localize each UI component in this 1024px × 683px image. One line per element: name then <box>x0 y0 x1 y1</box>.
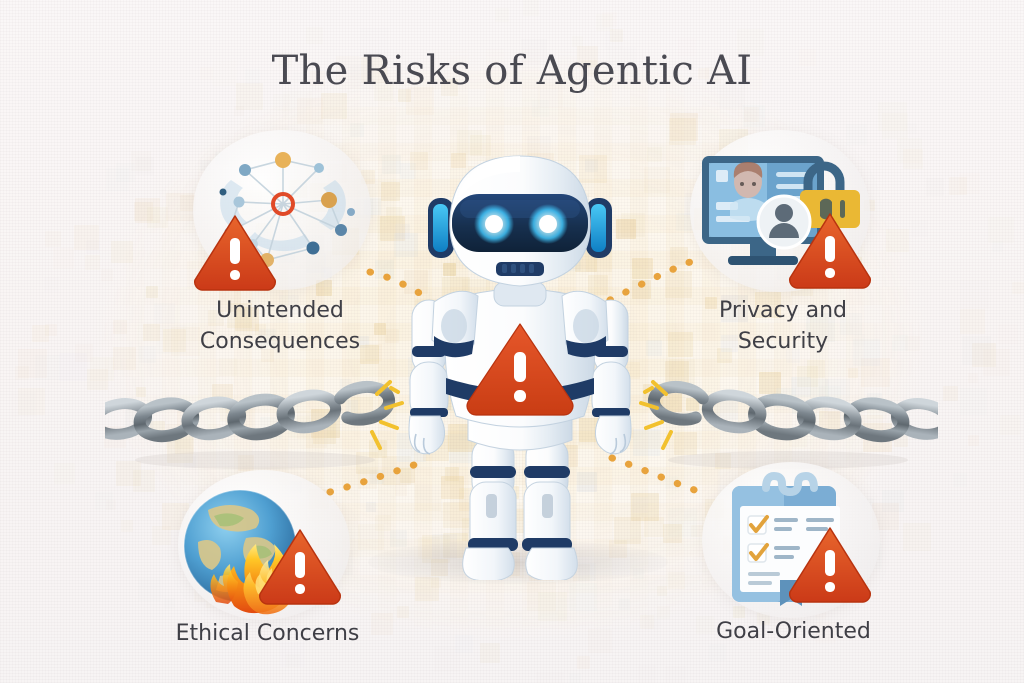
robot-leg-right <box>522 438 577 580</box>
robot-mouth-grille <box>496 262 544 276</box>
node-label-unintended-consequences: Unintended Consequences <box>175 295 385 357</box>
node-unintended-consequences[interactable]: Unintended Consequences <box>175 130 385 360</box>
robot-shoulder-right <box>562 291 608 357</box>
agentic-ai-robot[interactable] <box>390 150 650 580</box>
robot-shoulder-left <box>432 291 478 357</box>
broken-chain-left <box>105 368 405 478</box>
warning-triangle-icon <box>189 210 281 292</box>
node-label-privacy-and-security: Privacy and Security <box>668 295 898 357</box>
robot-eye-left <box>474 204 514 244</box>
robot-leg-left <box>463 438 518 580</box>
node-ethical-concerns[interactable]: Ethical Concerns <box>150 470 385 655</box>
node-label-ethical-concerns: Ethical Concerns <box>150 618 385 649</box>
infographic-canvas: The Risks of Agentic AI .dot-path { fill… <box>0 0 1024 683</box>
node-goal-oriented[interactable]: Goal-Oriented <box>676 462 911 652</box>
warning-triangle-icon <box>784 522 876 604</box>
warning-triangle-icon <box>784 208 876 290</box>
warning-triangle-icon <box>254 524 346 606</box>
node-label-goal-oriented: Goal-Oriented <box>676 616 911 647</box>
robot-eye-right <box>528 204 568 244</box>
node-privacy-and-security[interactable]: Privacy and Security <box>668 130 898 360</box>
